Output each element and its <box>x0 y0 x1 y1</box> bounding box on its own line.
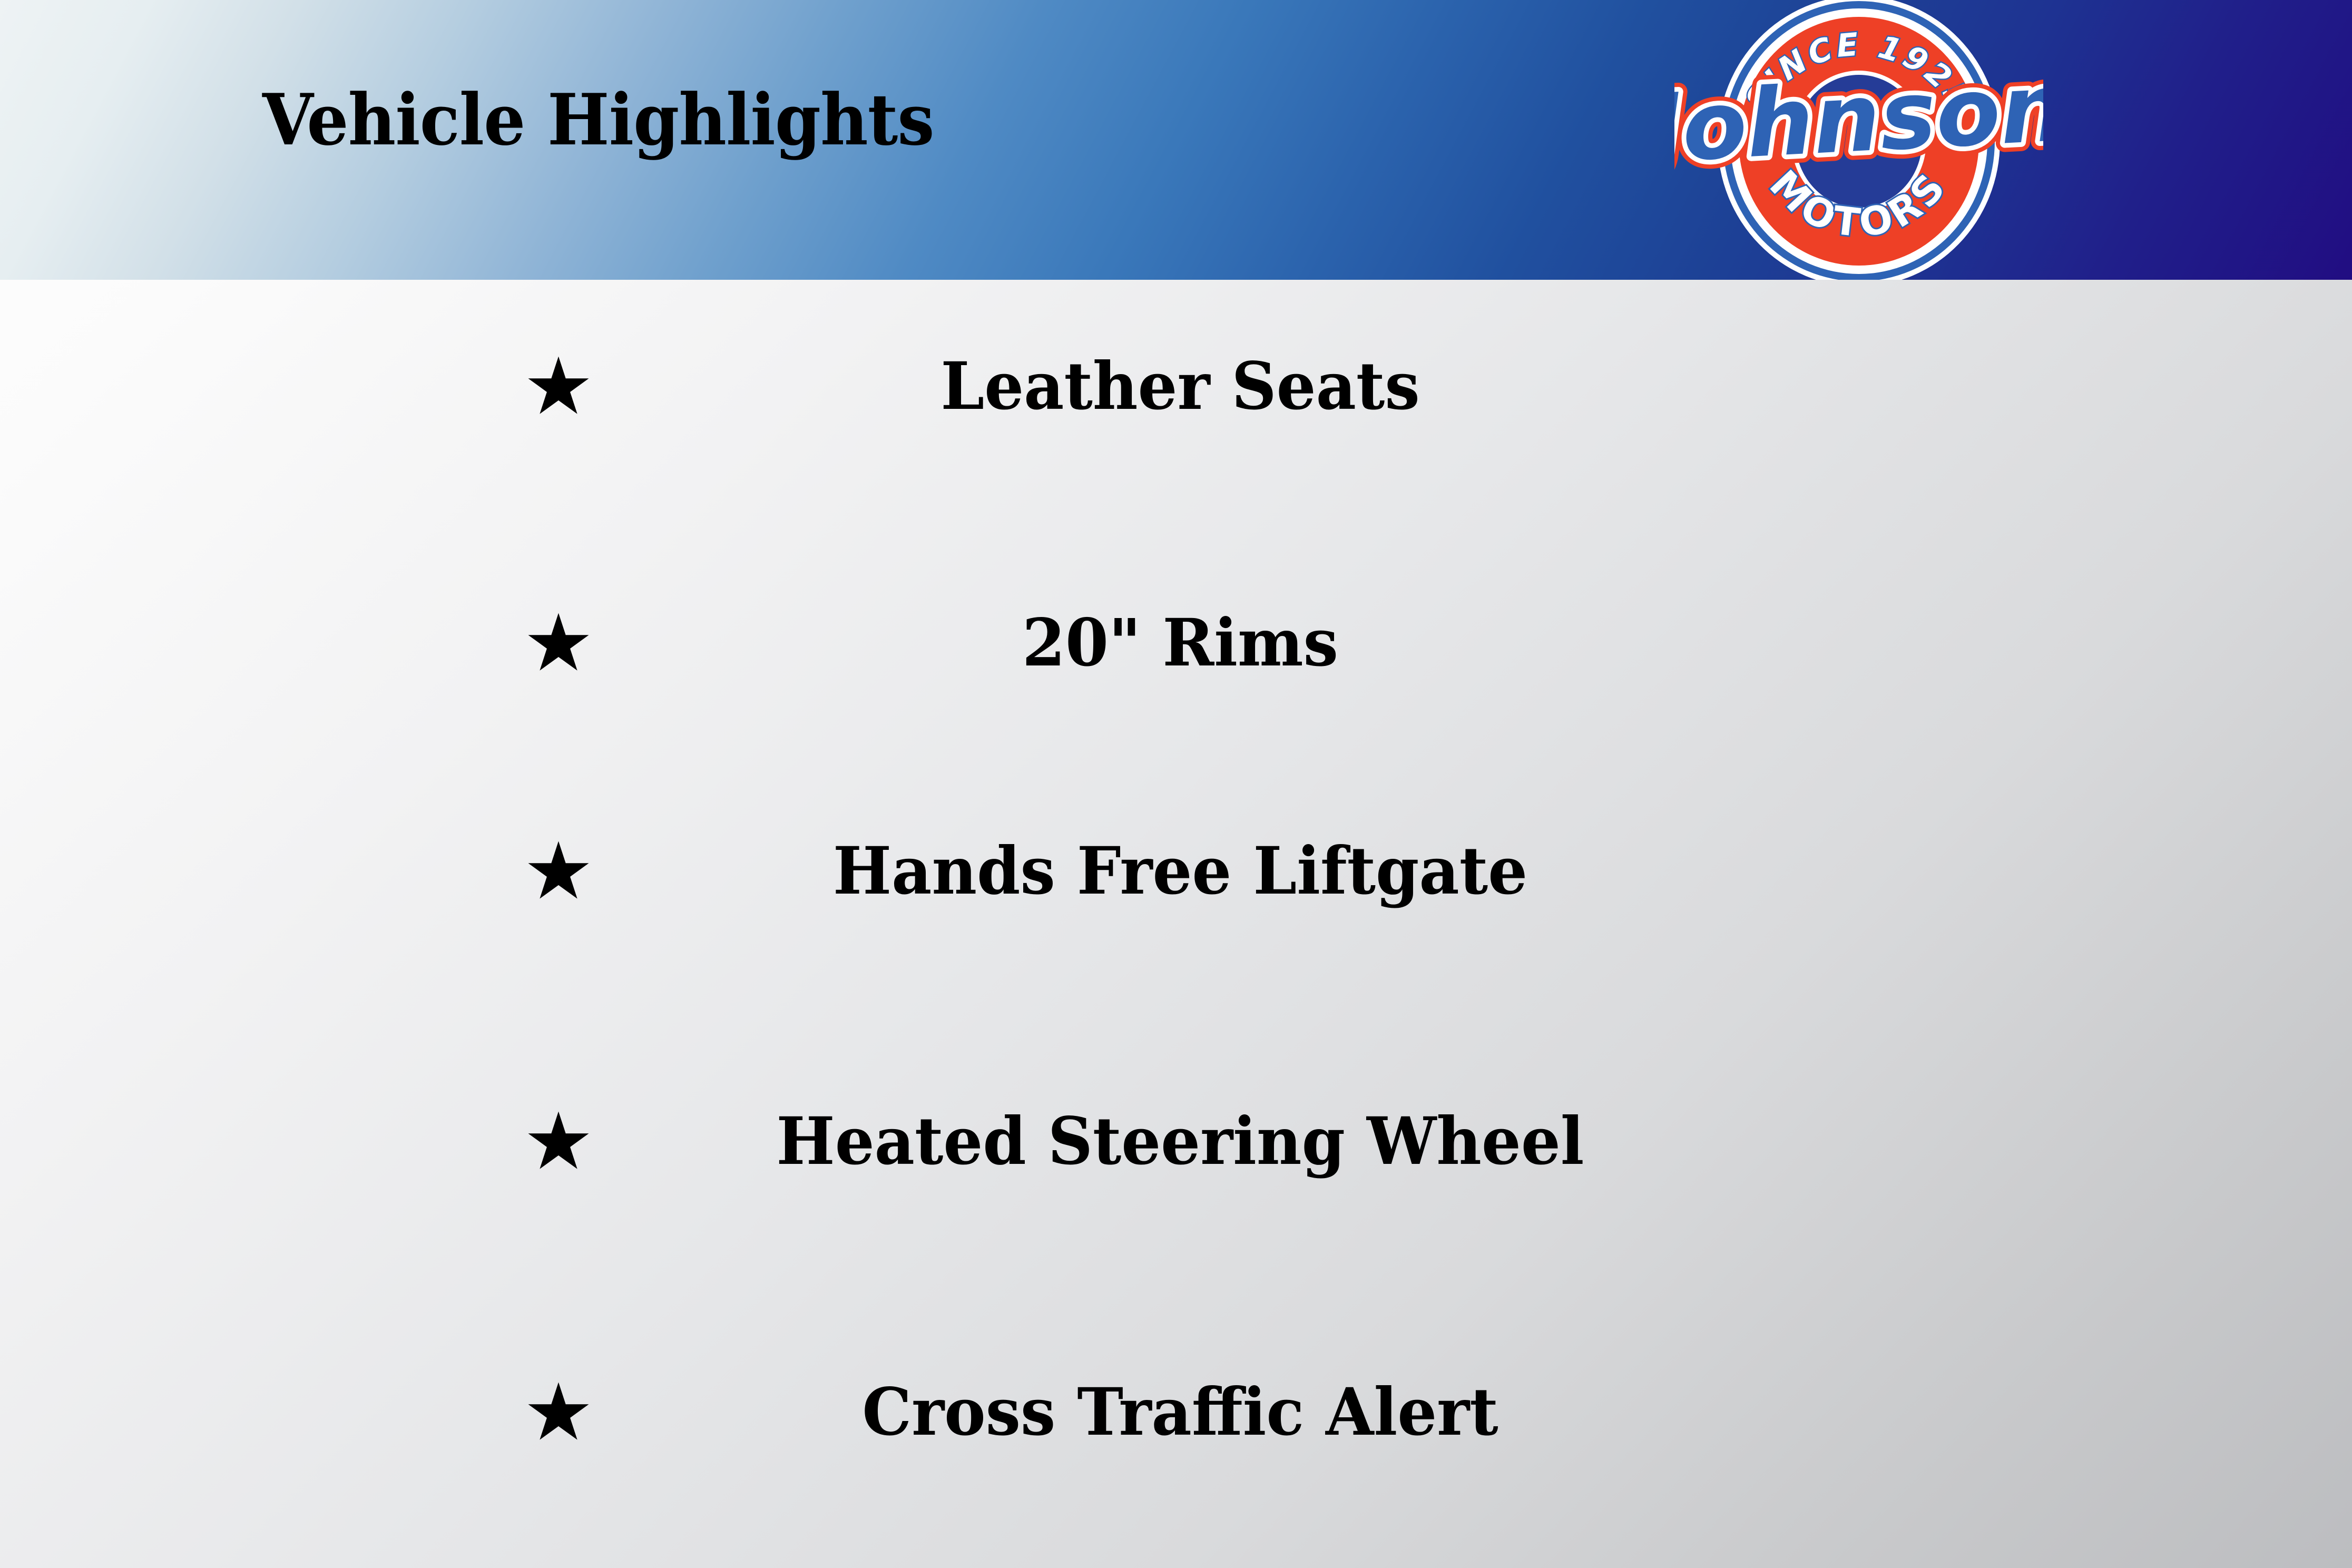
star-icon: ★ <box>519 342 598 432</box>
star-icon: ★ <box>519 1368 598 1457</box>
list-item: ★ Leather Seats <box>0 342 2352 432</box>
highlight-label: Leather Seats <box>630 342 1731 432</box>
page-title: Vehicle Highlights <box>262 84 934 155</box>
star-icon: ★ <box>519 1097 598 1187</box>
logo-brandname-text: Johnson Johnson <box>1674 53 2043 184</box>
highlight-label: Heated Steering Wheel <box>630 1097 1731 1187</box>
highlight-label: Hands Free Liftgate <box>630 827 1731 916</box>
list-item: ★ Hands Free Liftgate <box>0 827 2352 916</box>
list-item: ★ 20" Rims <box>0 599 2352 688</box>
star-icon: ★ <box>519 827 598 916</box>
slide-header-banner: Vehicle Highlights <box>0 0 2352 280</box>
list-item: ★ Cross Traffic Alert <box>0 1368 2352 1457</box>
highlight-label: Cross Traffic Alert <box>630 1368 1731 1457</box>
vehicle-highlights-slide: Vehicle Highlights <box>0 0 2352 1568</box>
highlights-list: ★ Leather Seats ★ 20" Rims ★ Hands Free … <box>0 280 2352 1568</box>
list-item: ★ Heated Steering Wheel <box>0 1097 2352 1187</box>
svg-text:Johnson: Johnson <box>1674 53 2043 184</box>
star-icon: ★ <box>519 599 598 688</box>
johnson-motors-logo: SINCE 1925 MOTORS Johnson Johnson <box>1674 0 2043 280</box>
highlight-label: 20" Rims <box>630 599 1731 688</box>
